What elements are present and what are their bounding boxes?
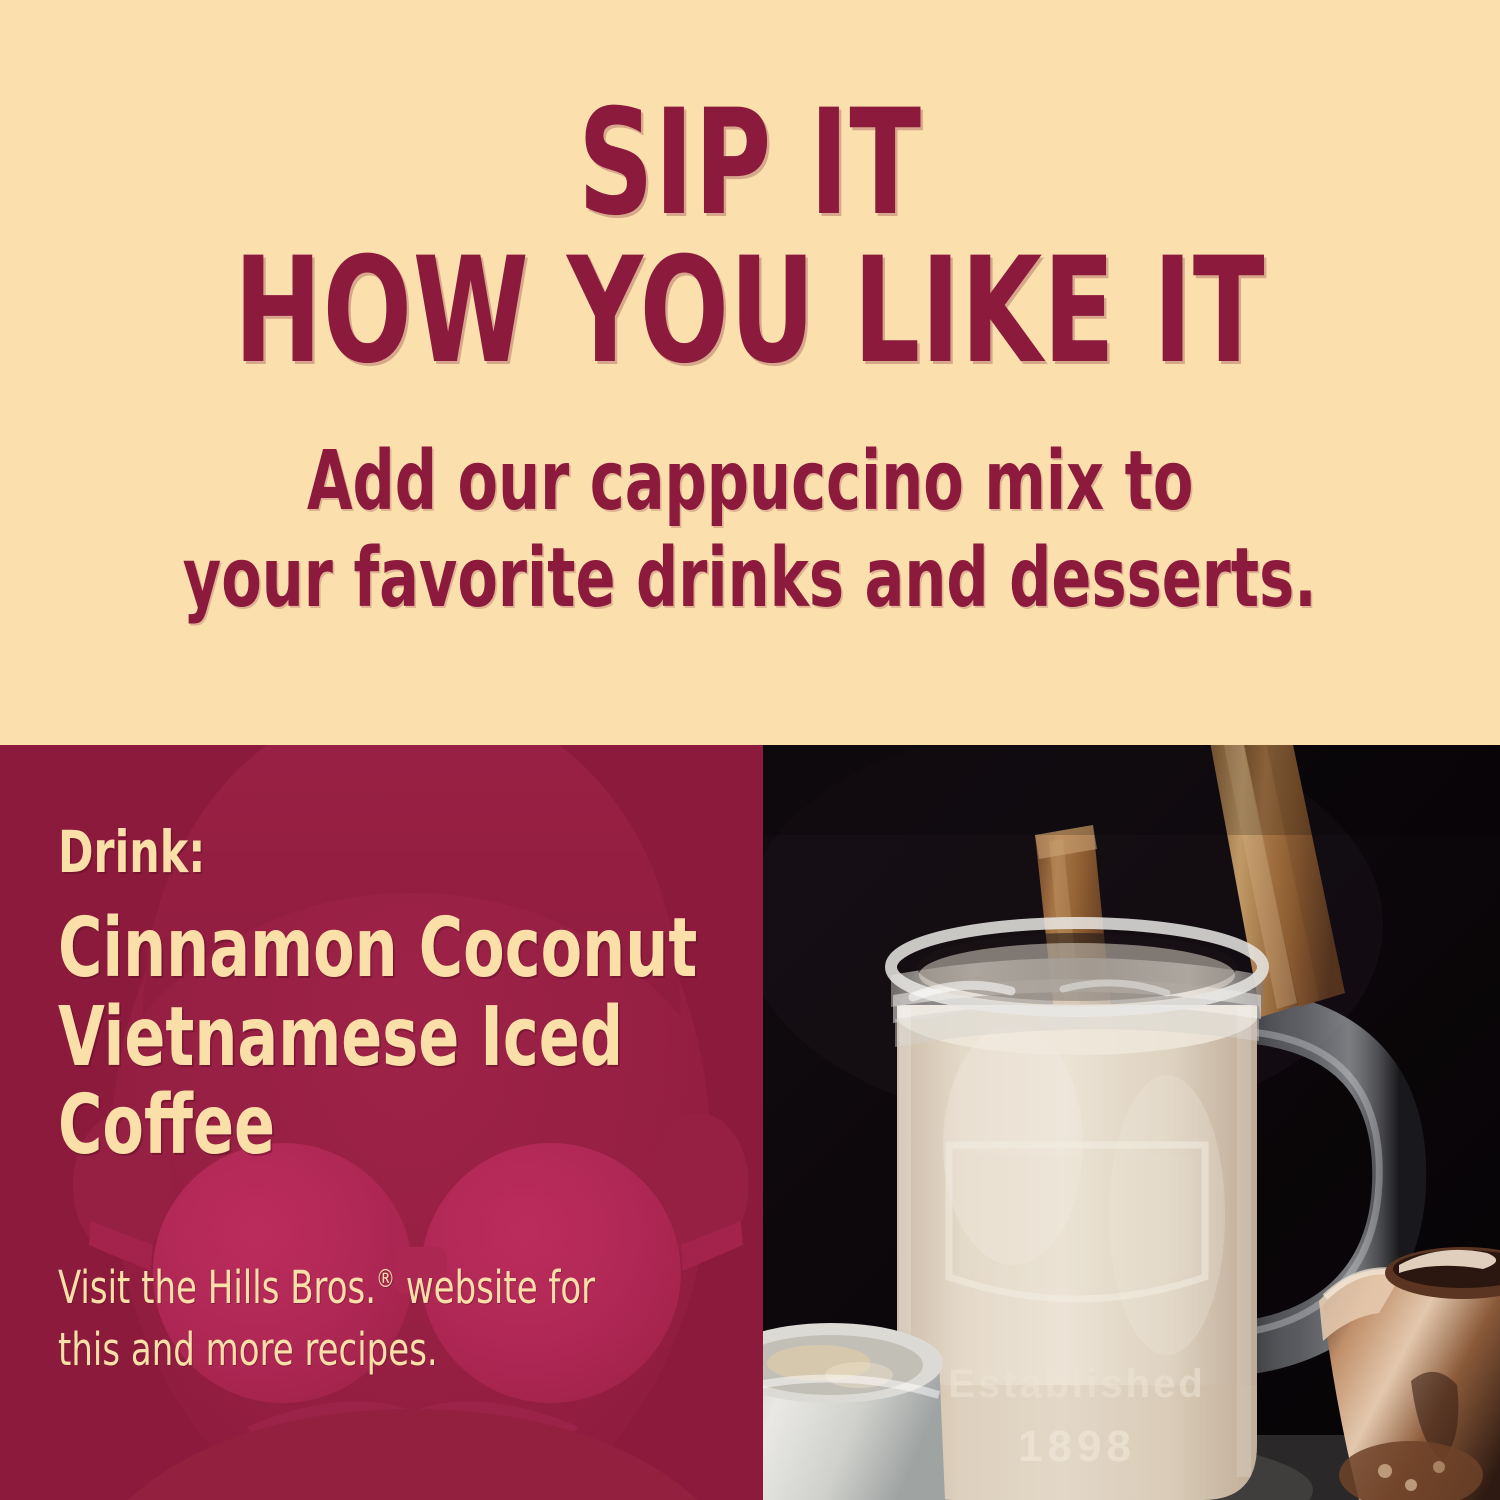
headline-line-2: HOW YOU LIKE IT xyxy=(234,244,1265,378)
footnote-text-line-2: and more recipes. xyxy=(131,1323,438,1376)
drink-label: Drink: xyxy=(58,823,599,881)
subheadline-line-1: Add our cappuccino mix to xyxy=(307,439,1194,526)
product-photo: Established 1898 xyxy=(763,745,1500,1500)
footnote-text-start: Visit the Hills Bros. xyxy=(58,1261,376,1314)
drink-name-line-3: Coffee xyxy=(58,1082,599,1171)
small-jar xyxy=(763,1323,945,1500)
jar-emboss-year: 1898 xyxy=(1018,1422,1136,1471)
mason-jar: Established 1898 xyxy=(891,923,1263,1500)
hero-panel: SIP IT HOW YOU LIKE IT Add our cappuccin… xyxy=(0,0,1500,745)
copper-pitcher xyxy=(1319,1247,1500,1500)
drink-name: Cinnamon Coconut Vietnamese Iced Coffee xyxy=(58,905,599,1171)
website-footnote: Visit the Hills Bros.® website for this … xyxy=(58,1257,646,1381)
recipe-panel: Drink: Cinnamon Coconut Vietnamese Iced … xyxy=(0,745,763,1500)
drink-name-line-2: Vietnamese Iced xyxy=(58,994,599,1083)
advertisement-card: SIP IT HOW YOU LIKE IT Add our cappuccin… xyxy=(0,0,1500,1500)
drink-name-line-1: Cinnamon Coconut xyxy=(58,905,599,994)
subheadline-line-2: your favorite drinks and desserts. xyxy=(183,536,1317,623)
headline-line-1: SIP IT xyxy=(578,96,922,230)
registered-trademark-icon: ® xyxy=(376,1264,395,1293)
recipe-text-block: Drink: Cinnamon Coconut Vietnamese Iced … xyxy=(58,823,718,1171)
jar-emboss-established: Established xyxy=(948,1362,1206,1406)
